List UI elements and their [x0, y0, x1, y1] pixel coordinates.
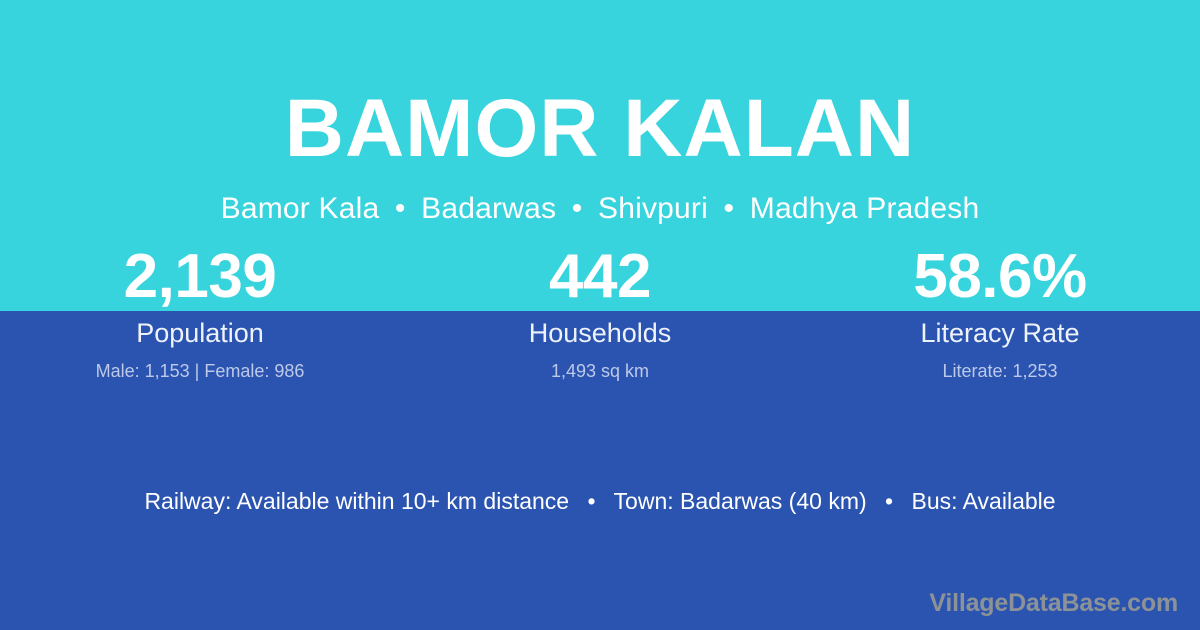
breadcrumb-separator: •: [565, 192, 590, 225]
stat-sublabel: Male: 1,153 | Female: 986: [0, 360, 400, 382]
amenity-bus: Bus: Available: [911, 488, 1055, 514]
stat-sublabel: Literate: 1,253: [800, 360, 1200, 382]
site-brand-watermark: VillageDataBase.com: [929, 588, 1178, 618]
amenity-separator: •: [873, 488, 905, 514]
stat-label: Population: [0, 318, 400, 348]
stat-value: 2,139: [0, 243, 400, 311]
stat-sublabel: 1,493 sq km: [400, 360, 800, 382]
page-title: BAMOR KALAN: [0, 0, 1200, 170]
amenities-line: Railway: Available within 10+ km distanc…: [0, 486, 1200, 516]
stat-literacy-rate: 58.6% Literacy Rate Literate: 1,253: [800, 243, 1200, 382]
stats-row: 2,139 Population Male: 1,153 | Female: 9…: [0, 243, 1200, 382]
stat-value: 442: [400, 243, 800, 311]
amenity-railway: Railway: Available within 10+ km distanc…: [144, 488, 569, 514]
stat-households: 442 Households 1,493 sq km: [400, 243, 800, 382]
breadcrumb-item-state: Madhya Pradesh: [750, 192, 980, 225]
stat-population: 2,139 Population Male: 1,153 | Female: 9…: [0, 243, 400, 382]
stat-label: Households: [400, 318, 800, 348]
breadcrumb-item-district: Shivpuri: [598, 192, 708, 225]
breadcrumb-separator: •: [388, 192, 413, 225]
stat-label: Literacy Rate: [800, 318, 1200, 348]
breadcrumb: Bamor Kala • Badarwas • Shivpuri • Madhy…: [0, 170, 1200, 225]
breadcrumb-item-block: Badarwas: [421, 192, 556, 225]
amenity-town: Town: Badarwas (40 km): [614, 488, 867, 514]
stat-value: 58.6%: [800, 243, 1200, 311]
card-header: BAMOR KALAN Bamor Kala • Badarwas • Shiv…: [0, 0, 1200, 225]
amenity-separator: •: [576, 488, 608, 514]
breadcrumb-item-village: Bamor Kala: [221, 192, 380, 225]
breadcrumb-separator: •: [717, 192, 742, 225]
village-info-card: BAMOR KALAN Bamor Kala • Badarwas • Shiv…: [0, 0, 1200, 630]
